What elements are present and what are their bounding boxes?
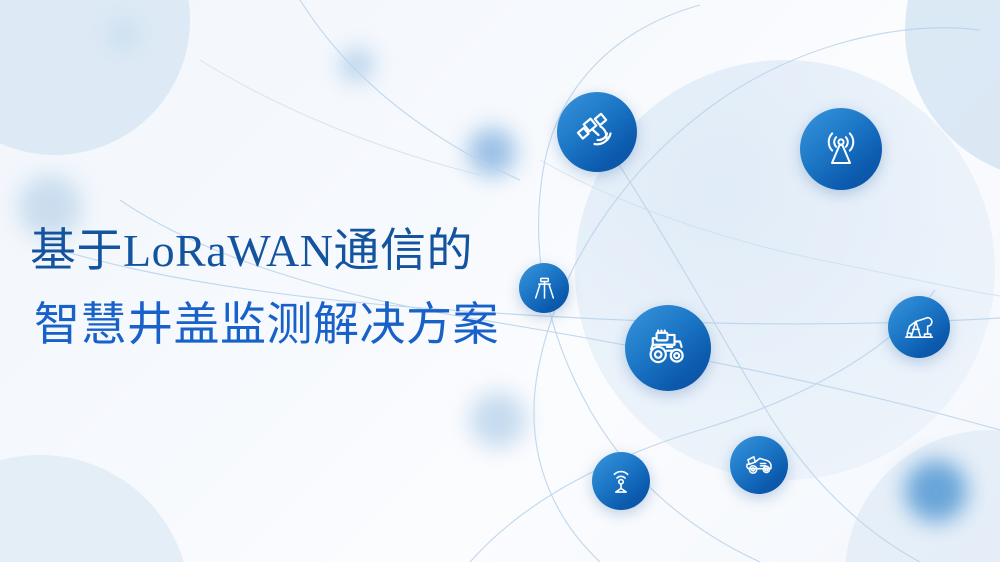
survey-tripod-icon <box>530 274 559 303</box>
radio-tower-icon-node[interactable] <box>800 108 882 190</box>
title-line-primary: 基于LoRaWAN通信的 <box>30 228 570 274</box>
tractor-icon <box>643 323 693 373</box>
oil-pumpjack-icon-node[interactable] <box>888 296 950 358</box>
radio-tower-icon <box>818 126 864 172</box>
satellite-icon <box>574 109 620 155</box>
survey-tripod-icon-node[interactable] <box>519 263 569 313</box>
signal-beacon-icon <box>604 464 638 498</box>
satellite-icon-node[interactable] <box>557 92 637 172</box>
page-title: 基于LoRaWAN通信的 智慧井盖监测解决方案 <box>30 228 570 348</box>
robot-mower-icon-node[interactable] <box>730 436 788 494</box>
robot-mower-icon <box>742 448 776 482</box>
signal-beacon-icon-node[interactable] <box>592 452 650 510</box>
slide-canvas: 基于LoRaWAN通信的 智慧井盖监测解决方案 <box>0 0 1000 562</box>
title-line-secondary: 智慧井盖监测解决方案 <box>34 302 570 348</box>
tractor-icon-node[interactable] <box>625 305 711 391</box>
oil-pumpjack-icon <box>901 309 937 345</box>
